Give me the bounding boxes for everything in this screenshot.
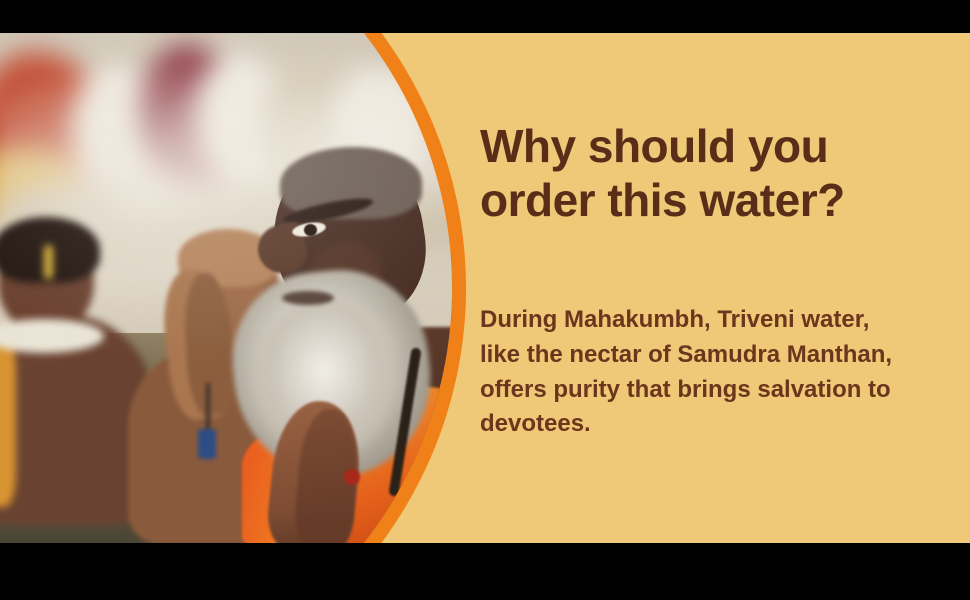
body-line-2: like the nectar of Samudra Manthan, — [480, 338, 942, 373]
headline-line-1: Why should you — [480, 119, 948, 173]
body-line-3: offers purity that brings salvation to — [480, 373, 942, 408]
letterbox-bar-bottom — [0, 543, 970, 600]
headline: Why should you order this water? — [480, 119, 948, 228]
sadhu-mouth — [282, 291, 334, 305]
body-line-1: During Mahakumbh, Triveni water, — [480, 303, 942, 338]
photo-devotees-bathing — [0, 33, 462, 543]
devotee-bowing-tilak — [44, 245, 53, 279]
devotee-bowing-shawl — [0, 337, 16, 507]
banner-stage: Why should you order this water? During … — [0, 0, 970, 600]
headline-line-2: order this water? — [480, 173, 948, 227]
text-column: Why should you order this water? During … — [480, 33, 950, 543]
devotee-praying-cord — [206, 383, 210, 435]
content-band: Why should you order this water? During … — [0, 33, 970, 543]
body-line-4: devotees. — [480, 407, 942, 442]
letterbox-bar-top — [0, 0, 970, 33]
body-copy: During Mahakumbh, Triveni water, like th… — [480, 303, 942, 442]
devotee-praying-blue-tag — [198, 429, 216, 459]
sadhu-robe-accent — [344, 469, 360, 485]
sadhu-pupil — [304, 224, 317, 236]
